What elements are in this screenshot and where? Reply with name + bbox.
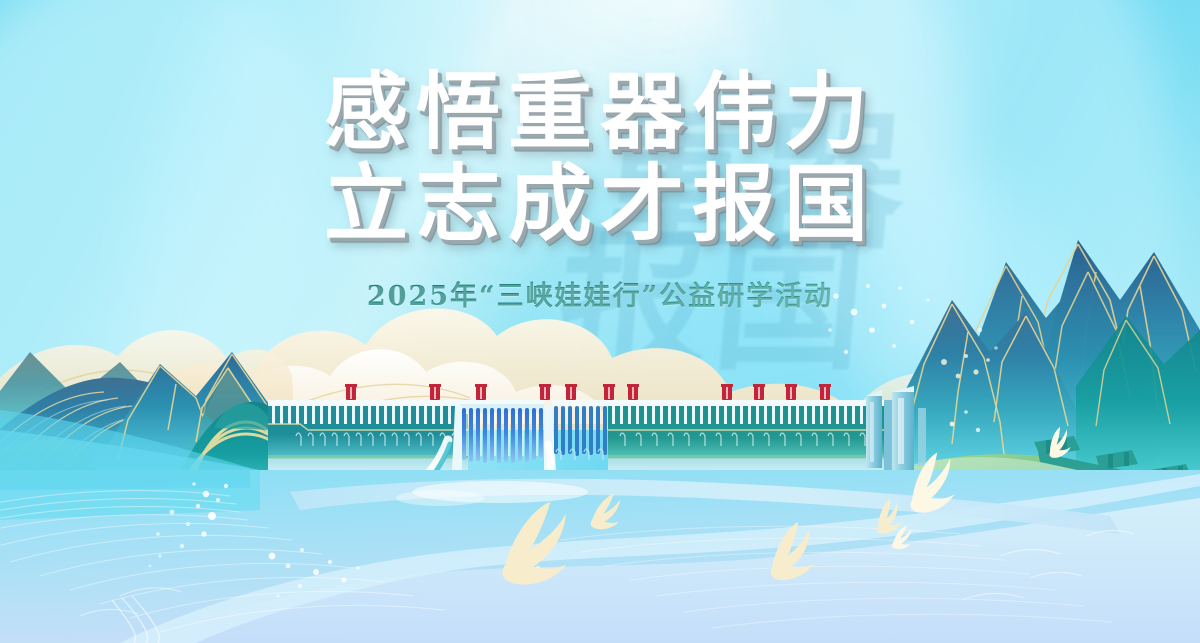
bird-swallow: [490, 499, 579, 590]
event-banner: 重器 报国: [0, 0, 1200, 643]
banner-subtitle: 2025年“三峡娃娃行”公益研学活动: [0, 274, 1200, 313]
title-line-2: 立志成才报国: [0, 158, 1200, 250]
bird-swallow: [587, 493, 624, 531]
bird-dove: [1040, 425, 1076, 461]
title-line-1: 感悟重器伟力: [0, 66, 1200, 158]
banner-text-block: 感悟重器伟力 立志成才报国 2025年“三峡娃娃行”公益研学活动: [0, 66, 1200, 313]
bird-swallow: [758, 519, 822, 584]
bird-dove: [896, 449, 965, 518]
